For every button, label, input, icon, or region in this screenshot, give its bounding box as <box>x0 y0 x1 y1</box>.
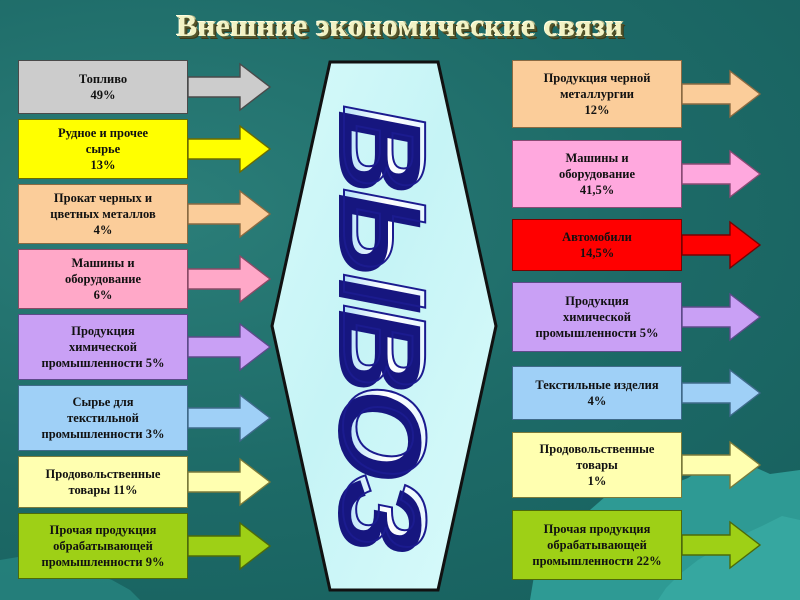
flow-box-line: цветных металлов <box>50 206 155 222</box>
flow-box-line: 13% <box>91 157 116 173</box>
flow-box-line: промышленности 5% <box>536 325 659 341</box>
flow-box[interactable]: Сырье длятекстильнойпромышленности 3% <box>18 385 188 451</box>
flow-box[interactable]: Продукция чернойметаллургии12% <box>512 60 682 128</box>
flow-box-line: 12% <box>585 102 610 118</box>
infographic-canvas: Внешние экономические связи Топливо49%Ру… <box>0 0 800 600</box>
flow-box[interactable]: Прокат черных ицветных металлов4% <box>18 184 188 244</box>
flow-box-line: химической <box>563 309 631 325</box>
flow-box-line: Прокат черных и <box>54 190 152 206</box>
flow-box[interactable]: Топливо49% <box>18 60 188 114</box>
flow-box[interactable]: Продовольственныетовары 11% <box>18 456 188 508</box>
flow-box-line: Текстильные изделия <box>535 377 658 393</box>
flow-box[interactable]: Продовольственныетовары1% <box>512 432 682 498</box>
flow-box[interactable]: Продукцияхимическойпромышленности 5% <box>512 282 682 352</box>
flow-box-line: Продукция черной <box>544 70 651 86</box>
flow-box-line: 49% <box>91 87 116 103</box>
flow-box-line: сырье <box>86 141 120 157</box>
flow-box-line: промышленности 9% <box>42 554 165 570</box>
flow-box-line: Продовольственные <box>46 466 161 482</box>
flow-box-line: Рудное и прочее <box>58 125 148 141</box>
flow-box-line: Машины и <box>71 255 134 271</box>
flow-box-line: Продукция <box>565 293 629 309</box>
flow-box[interactable]: Прочая продукцияобрабатывающейпромышленн… <box>512 510 682 580</box>
flow-box[interactable]: Машины иоборудование6% <box>18 249 188 309</box>
center-hexagon: ВЫВОЗ <box>268 58 500 594</box>
flow-box-line: 6% <box>94 287 113 303</box>
flow-box-line: Топливо <box>79 71 127 87</box>
flow-box-line: Продовольственные <box>540 441 655 457</box>
flow-box[interactable]: Машины иоборудование41,5% <box>512 140 682 208</box>
flow-box-line: оборудование <box>559 166 635 182</box>
flow-box-line: 4% <box>588 393 607 409</box>
flow-box-line: Прочая продукция <box>50 522 157 538</box>
flow-box-line: 4% <box>94 222 113 238</box>
flow-box-line: промышленности 5% <box>42 355 165 371</box>
flow-box[interactable]: Рудное и прочеесырье13% <box>18 119 188 179</box>
flow-box-line: 1% <box>588 473 607 489</box>
flow-box-line: Машины и <box>565 150 628 166</box>
flow-box-line: Автомобили <box>562 229 632 245</box>
flow-box-line: промышленности 22% <box>532 553 661 569</box>
flow-box-line: товары 11% <box>68 482 137 498</box>
flow-box[interactable]: Автомобили14,5% <box>512 219 682 271</box>
flow-box[interactable]: Продукцияхимическойпромышленности 5% <box>18 314 188 380</box>
flow-box-line: Продукция <box>71 323 135 339</box>
flow-box-line: товары <box>576 457 618 473</box>
flow-box-line: обрабатывающей <box>547 537 647 553</box>
flow-box[interactable]: Прочая продукцияобрабатывающейпромышленн… <box>18 513 188 579</box>
flow-box-line: металлургии <box>560 86 634 102</box>
flow-box-line: 41,5% <box>580 182 614 198</box>
flow-box-line: оборудование <box>65 271 141 287</box>
hexagon-shape <box>268 58 500 594</box>
flow-box-line: текстильной <box>67 410 139 426</box>
flow-box[interactable]: Текстильные изделия4% <box>512 366 682 420</box>
flow-box-line: Сырье для <box>72 394 133 410</box>
flow-box-line: химической <box>69 339 137 355</box>
flow-box-line: промышленности 3% <box>42 426 165 442</box>
flow-box-line: обрабатывающей <box>53 538 153 554</box>
flow-box-line: 14,5% <box>580 245 614 261</box>
page-title: Внешние экономические связи <box>0 8 800 44</box>
flow-box-line: Прочая продукция <box>544 521 651 537</box>
